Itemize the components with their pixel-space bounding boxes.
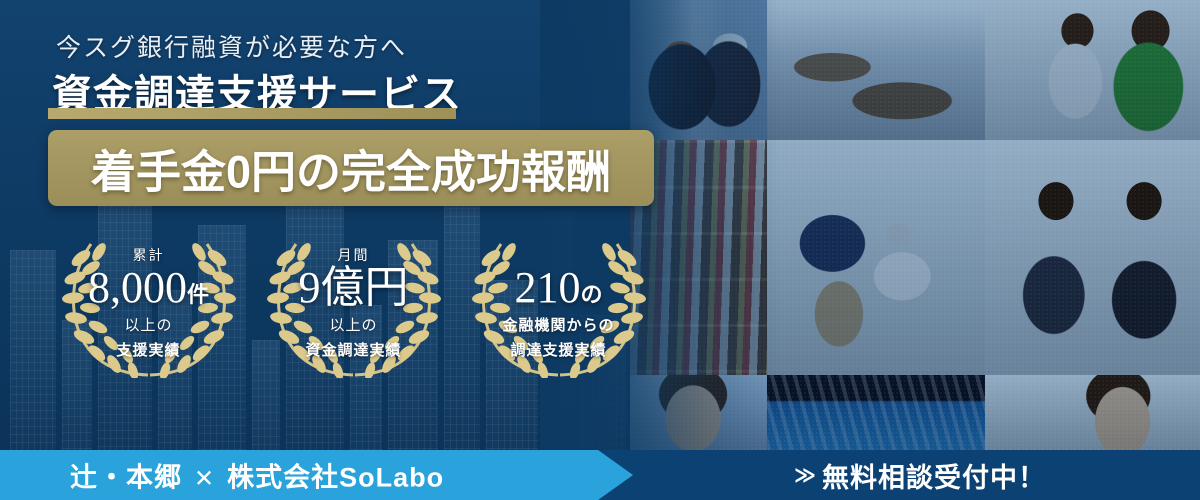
partner-logos: 辻・本郷✕株式会社SoLabo bbox=[70, 456, 444, 495]
badge-line-1: 以上の bbox=[46, 316, 251, 336]
stat-badge: 210の 金融機関からの 調達支援実績 bbox=[456, 228, 661, 378]
headline-block: 今スグ銀行融資が必要な方へ 資金調達支援サービス 着手金0円の完全成功報酬 bbox=[0, 0, 700, 450]
chevron-right-icon: ≫ bbox=[794, 463, 822, 488]
badge-number: 210 bbox=[514, 263, 580, 312]
badge-unit: の bbox=[580, 282, 602, 307]
stat-badge: 累計 8,000件 以上の 支援実績 bbox=[46, 228, 251, 378]
caregiver-with-elderly-photo bbox=[767, 140, 985, 375]
bottom-bar: 辻・本郷✕株式会社SoLabo ≫無料相談受付中！ bbox=[0, 450, 1200, 500]
promotional-banner[interactable]: 今スグ銀行融資が必要な方へ 資金調達支援サービス 着手金0円の完全成功報酬 bbox=[0, 0, 1200, 500]
badge-unit: 件 bbox=[187, 282, 209, 307]
stats-badges: 累計 8,000件 以上の 支援実績 bbox=[46, 228, 666, 378]
smiling-woman-photo bbox=[985, 375, 1200, 450]
cta-label: 無料相談受付中！ bbox=[822, 456, 1046, 495]
badge-line-1: 金融機関からの bbox=[456, 316, 661, 336]
kicker-text: 今スグ銀行融資が必要な方へ bbox=[56, 28, 407, 64]
badge-value: 8,000件 bbox=[46, 266, 251, 311]
businessmen-meeting-photo bbox=[985, 140, 1200, 375]
partner-a-label: 辻・本郷 bbox=[70, 463, 182, 493]
teacher-with-child-photo bbox=[985, 0, 1200, 140]
badge-line-2: 支援実績 bbox=[46, 341, 251, 361]
highlight-text: 着手金0円の完全成功報酬 bbox=[48, 136, 654, 201]
partner-band: 辻・本郷✕株式会社SoLabo bbox=[0, 450, 633, 500]
fish-market-photo bbox=[767, 375, 985, 450]
cross-icon: ✕ bbox=[182, 466, 227, 493]
partner-b-label: 株式会社SoLabo bbox=[227, 463, 444, 493]
badge-caption: 累計 bbox=[46, 248, 251, 262]
highlight-box: 着手金0円の完全成功報酬 bbox=[48, 130, 654, 206]
badge-value: 9億円 bbox=[251, 266, 456, 311]
stat-badge: 月間 9億円 以上の 資金調達実績 bbox=[251, 228, 456, 378]
badge-caption: 月間 bbox=[251, 248, 456, 262]
badge-line-2: 資金調達実績 bbox=[251, 341, 456, 361]
badge-caption bbox=[456, 248, 661, 262]
badge-number: 8,000 bbox=[88, 263, 187, 312]
treatment-clinic-photo bbox=[767, 0, 985, 140]
badge-value: 210の bbox=[456, 266, 661, 311]
badge-line-2: 調達支援実績 bbox=[456, 341, 661, 361]
title-underline-bar bbox=[48, 108, 456, 119]
badge-line-1: 以上の bbox=[251, 316, 456, 336]
badge-number: 9億円 bbox=[299, 263, 409, 312]
cta-button[interactable]: ≫無料相談受付中！ bbox=[640, 450, 1200, 500]
